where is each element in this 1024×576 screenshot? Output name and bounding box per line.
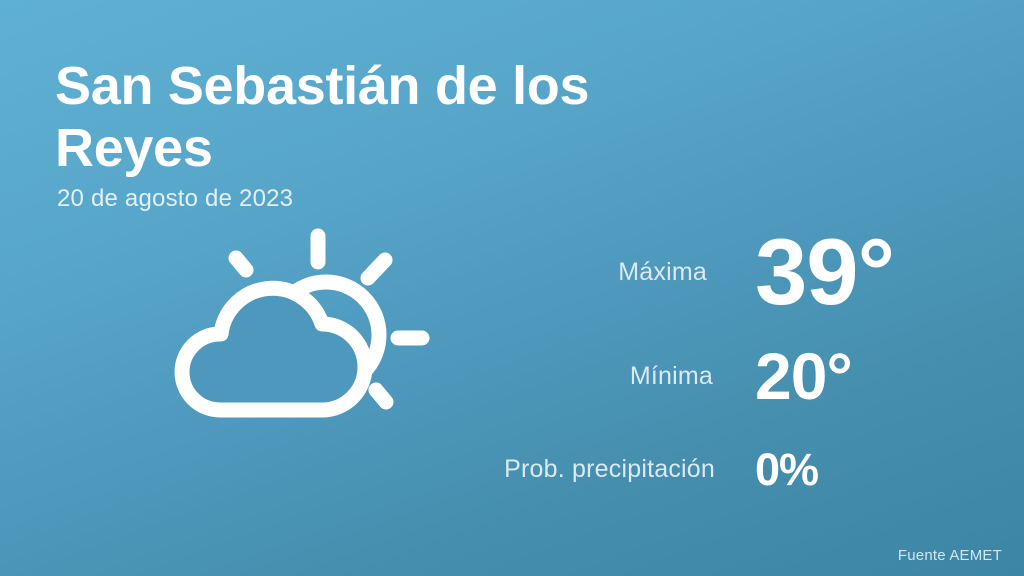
reading-value-maxima: 39° — [755, 225, 960, 319]
partly-cloudy-sun-icon — [150, 218, 440, 448]
reading-label-maxima: Máxima — [618, 258, 707, 287]
reading-row-minima: Mínima 20° — [400, 322, 960, 430]
weather-card: San Sebastián de los Reyes 20 de agosto … — [0, 0, 1024, 576]
reading-value-minima: 20° — [755, 343, 960, 409]
page-title: San Sebastián de los Reyes — [55, 56, 755, 179]
reading-value-precipitation: 0% — [755, 447, 960, 492]
reading-row-maxima: Máxima 39° — [400, 222, 960, 322]
forecast-date: 20 de agosto de 2023 — [57, 185, 755, 213]
reading-label-precipitation: Prob. precipitación — [504, 455, 715, 484]
reading-row-precipitation: Prob. precipitación 0% — [400, 430, 960, 508]
partly-cloudy-sun-glyph — [150, 218, 440, 448]
reading-label-minima: Mínima — [630, 362, 713, 391]
header: San Sebastián de los Reyes 20 de agosto … — [55, 56, 755, 213]
readings-list: Máxima 39° Mínima 20° Prob. precipitació… — [400, 222, 960, 508]
source-attribution: Fuente AEMET — [898, 547, 1002, 564]
